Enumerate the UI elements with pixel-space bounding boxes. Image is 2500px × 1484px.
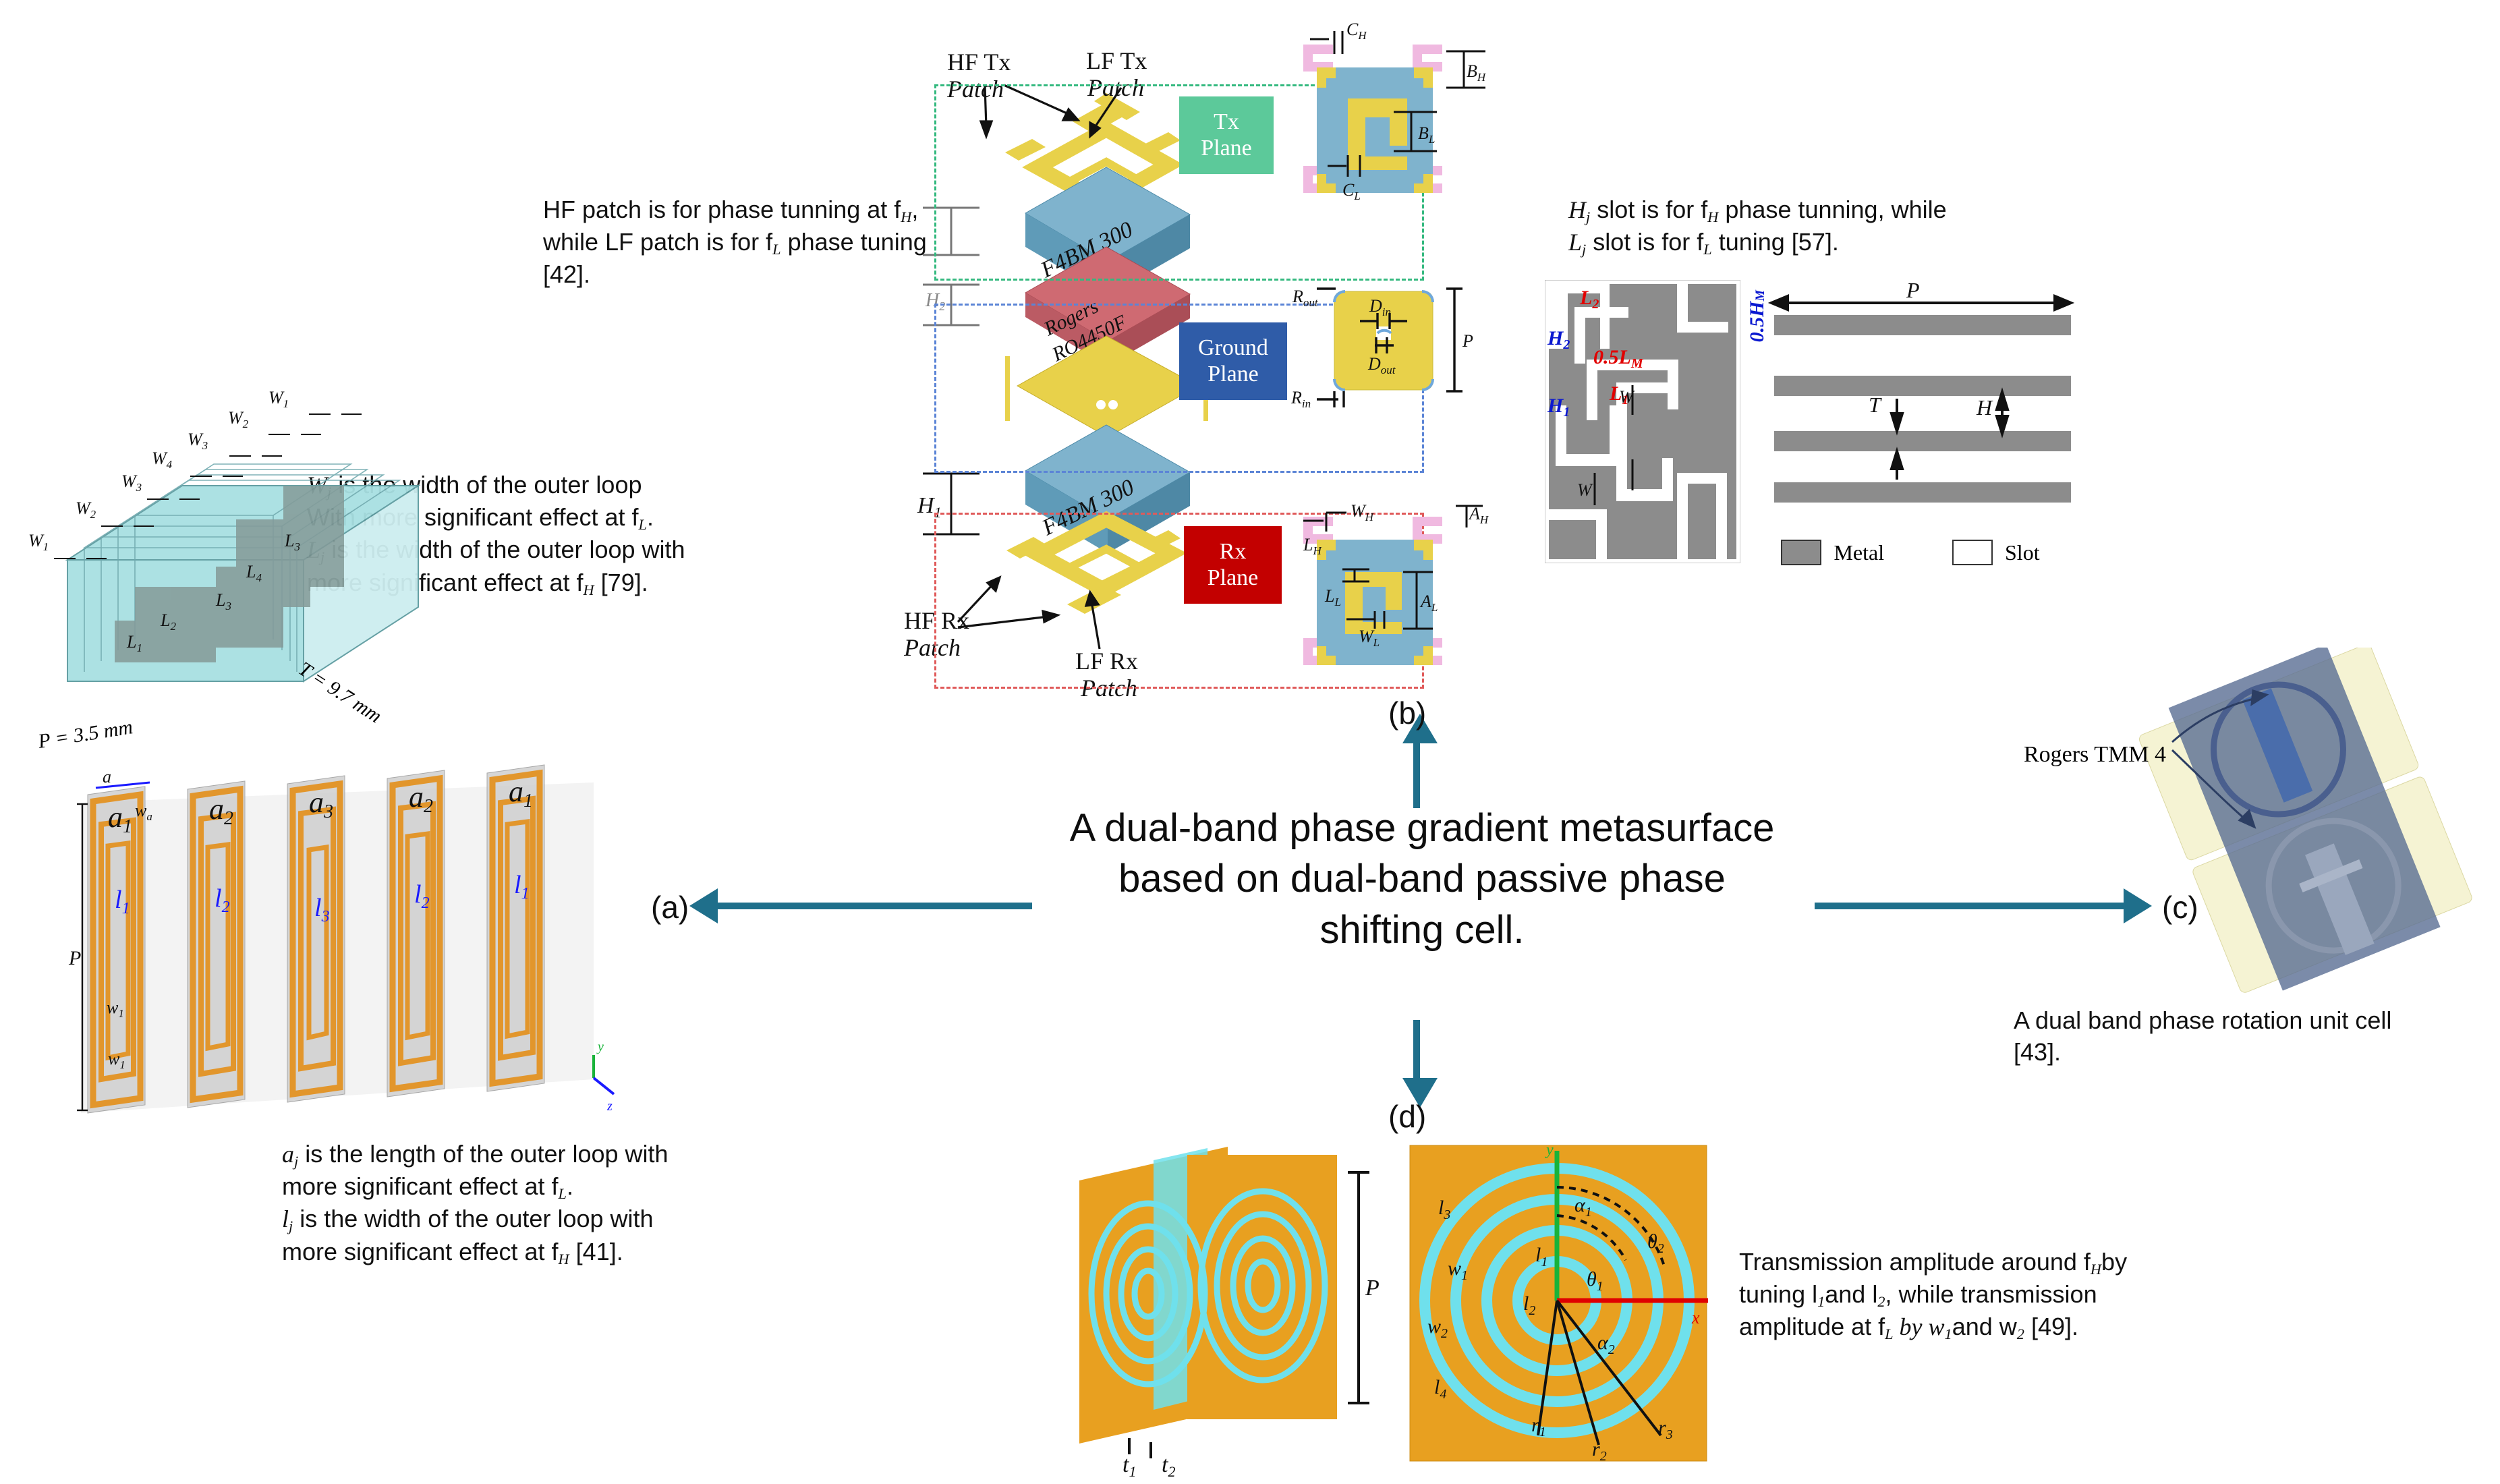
note-br-l1-tail: by: [2101, 1248, 2127, 1276]
dim-ch: CH: [1346, 20, 1367, 42]
slot-dim-w-b: W: [1577, 480, 1593, 500]
rx-plane-chip: Rx Plane: [1184, 526, 1282, 604]
panel-d-dim-p: P: [1365, 1276, 1380, 1301]
metal-swatch: [1781, 540, 1821, 565]
slot-swatch: [1952, 540, 1993, 565]
rx-plane-label-1: Rx: [1220, 539, 1247, 565]
panel-c-caption-l1: A dual band phase rotation unit cell: [2014, 1005, 2486, 1037]
note-br-l3-mid2: and w: [1952, 1313, 2017, 1340]
slot-dim-05hm: 0.5HM: [1746, 290, 1769, 342]
note-bl-l2-pre: more significant effect at f: [282, 1172, 559, 1200]
arrow-to-panel-a: [715, 903, 1032, 909]
dim-ah: AH: [1468, 504, 1489, 526]
panel-d-letter: (d): [1388, 1098, 1426, 1135]
svg-text:W2: W2: [76, 498, 96, 521]
tx-plane-inset: CH BH BL CL: [1302, 12, 1518, 208]
legend-slot-label: Slot: [2005, 540, 2040, 565]
panel-c-caption: A dual band phase rotation unit cell [43…: [2014, 1005, 2486, 1068]
panel-a-loop-array: P a wa w1 w1 a1 a2 a3 a2 a1 l1 l2 l3 l2 …: [61, 762, 627, 1153]
svg-text:z: z: [606, 1099, 613, 1114]
panel-d-dim-t1: t1: [1123, 1452, 1136, 1477]
note-bl-l4-pre: more significant effect at f: [282, 1238, 559, 1265]
arrow-to-panel-a-head: [689, 888, 718, 923]
panel-c-material-label: Rogers TMM 4: [2024, 742, 2166, 768]
panel-d-axis-x: x: [1691, 1308, 1700, 1328]
note-bottom-right: Transmission amplitude around fHby tunin…: [1739, 1247, 2279, 1344]
panel-d-double-layer: P t1 t2: [1073, 1140, 1410, 1477]
dim-wh: WH: [1351, 501, 1375, 523]
note-br-l1-sub: H: [2091, 1261, 2101, 1278]
note-tr-l1-sub2: H: [1707, 208, 1718, 225]
arrow-to-panel-c: [1815, 903, 2125, 909]
dim-bh: BH: [1467, 61, 1487, 84]
note-top-right: Hj slot is for fH phase tunning, while L…: [1568, 194, 2014, 259]
svg-text:W1: W1: [268, 388, 289, 410]
note-tr-l2-mid: slot is for f: [1586, 228, 1703, 256]
svg-text:W3: W3: [121, 472, 142, 494]
dim-al: AL: [1419, 592, 1438, 614]
panel-d-top-view: l3 l1 l2 l4 w1 w2 r1 r2 r3 α1 α2 θ1 θ2 y…: [1403, 1140, 1720, 1477]
note-br-l3-pre: amplitude at f: [1739, 1313, 1885, 1340]
note-bl-l4-sub: H: [559, 1251, 569, 1267]
panel-b-right-grating: P T H: [1767, 280, 2078, 563]
note-tr-l2-sub2: L: [1703, 241, 1711, 258]
note-tr-l2-pre: L: [1568, 229, 1582, 256]
panel-c-caption-l2: [43].: [2014, 1037, 2486, 1068]
panel-b-right-slot-cell: L2 H2 0.5LM L1 H1 W W: [1545, 280, 1740, 563]
ground-plane-chip: Ground Plane: [1179, 322, 1287, 400]
grating-dim-t: T: [1869, 393, 1882, 417]
svg-text:a: a: [103, 767, 111, 787]
note-tr-l1-pre: H: [1568, 196, 1586, 223]
grating-dim-p: P: [1906, 280, 1920, 302]
note-br-l3-mid: by w: [1894, 1313, 1945, 1340]
ground-plane-label-2: Plane: [1208, 362, 1259, 387]
grating-dim-h: H: [1976, 395, 1993, 420]
note-bl-l3-tail: is the width of the outer loop with: [293, 1205, 653, 1232]
rx-plane-inset: WH LH LL AL WL AH: [1302, 499, 1525, 695]
note-br-l2-sub2: 2: [1877, 1293, 1885, 1310]
callout-hf-tx-1: HF Tx: [947, 49, 1011, 76]
panel-d-dim-t2: t2: [1162, 1452, 1175, 1477]
tx-plane-label-2: Plane: [1201, 136, 1252, 161]
note-br-l3-tail: [49].: [2024, 1313, 2078, 1340]
arrow-to-panel-b: [1413, 742, 1420, 808]
tx-plane-label-1: Tx: [1214, 109, 1239, 135]
note-tr-l1-tail: phase tunning, while: [1718, 196, 1946, 223]
note-bl-l3-pre: l: [282, 1205, 289, 1232]
panel-b-letter: (b): [1388, 695, 1426, 731]
note-ml-l4-sub: H: [584, 581, 594, 598]
svg-text:W1: W1: [28, 531, 49, 553]
note-ml-l2-tail: .: [647, 503, 654, 531]
note-tl-l2-sub: L: [772, 241, 780, 258]
note-br-l2-sub: 1: [1817, 1293, 1825, 1310]
note-tr-l2-tail: tuning [57].: [1712, 228, 1839, 256]
svg-text:W4: W4: [152, 449, 173, 471]
note-br-l2-mid: and l: [1825, 1280, 1877, 1308]
panel-a-letter: (a): [651, 889, 689, 925]
svg-text:W2: W2: [228, 408, 249, 430]
note-ml-l4-tail: [79].: [594, 569, 648, 596]
panel-d-axis-y: y: [1545, 1141, 1554, 1159]
dim-rout: Rout: [1292, 287, 1319, 309]
note-br-l2-tail: , while transmission: [1885, 1280, 2097, 1308]
panel-left-top-3d-block: W1 W2 W3 W4 W3 W2 W1 L1 L2 L3 L4 L3: [13, 364, 432, 742]
note-bottom-left: aj is the length of the outer loop with …: [282, 1139, 754, 1269]
note-bl-l2-sub: L: [559, 1185, 567, 1202]
note-br-l1-pre: Transmission amplitude around f: [1739, 1248, 2091, 1276]
center-statement: A dual-band phase gradient metasurface b…: [1058, 803, 1786, 955]
panel-c-unit-cell: [2125, 648, 2500, 998]
note-ml-l2-sub: L: [639, 516, 647, 533]
svg-text:y: y: [596, 1039, 604, 1054]
note-tr-l1-mid: slot is for f: [1590, 196, 1707, 223]
svg-text:P: P: [68, 947, 81, 969]
metal-slot-legend: Metal Slot: [1781, 540, 2064, 565]
ground-plane-label-1: Ground: [1198, 335, 1268, 361]
tx-plane-chip: Tx Plane: [1179, 96, 1274, 174]
note-br-l3-sub2: 1: [1945, 1326, 1952, 1343]
dim-p-ground: P: [1462, 331, 1473, 351]
dim-rin: Rin: [1290, 388, 1311, 410]
callout-lf-tx-1: LF Tx: [1086, 47, 1147, 74]
rx-plane-label-2: Plane: [1208, 565, 1259, 591]
note-tl-l1: HF patch is for phase tunning at f: [543, 196, 901, 223]
ground-plane-inset: Rout Din Dout Rin P: [1286, 282, 1529, 451]
note-bl-l4-tail: [41].: [569, 1238, 623, 1265]
note-br-l3-sub3: 2: [2017, 1326, 2024, 1343]
note-br-l2-pre: tuning l: [1739, 1280, 1817, 1308]
arrow-to-panel-d: [1413, 1020, 1420, 1081]
svg-text:W3: W3: [188, 430, 208, 452]
note-bl-l2-tail: .: [567, 1172, 573, 1200]
note-br-l3-sub: L: [1885, 1326, 1893, 1343]
note-tl-l2: while LF patch is for f: [543, 228, 772, 256]
legend-metal-label: Metal: [1834, 540, 1884, 565]
